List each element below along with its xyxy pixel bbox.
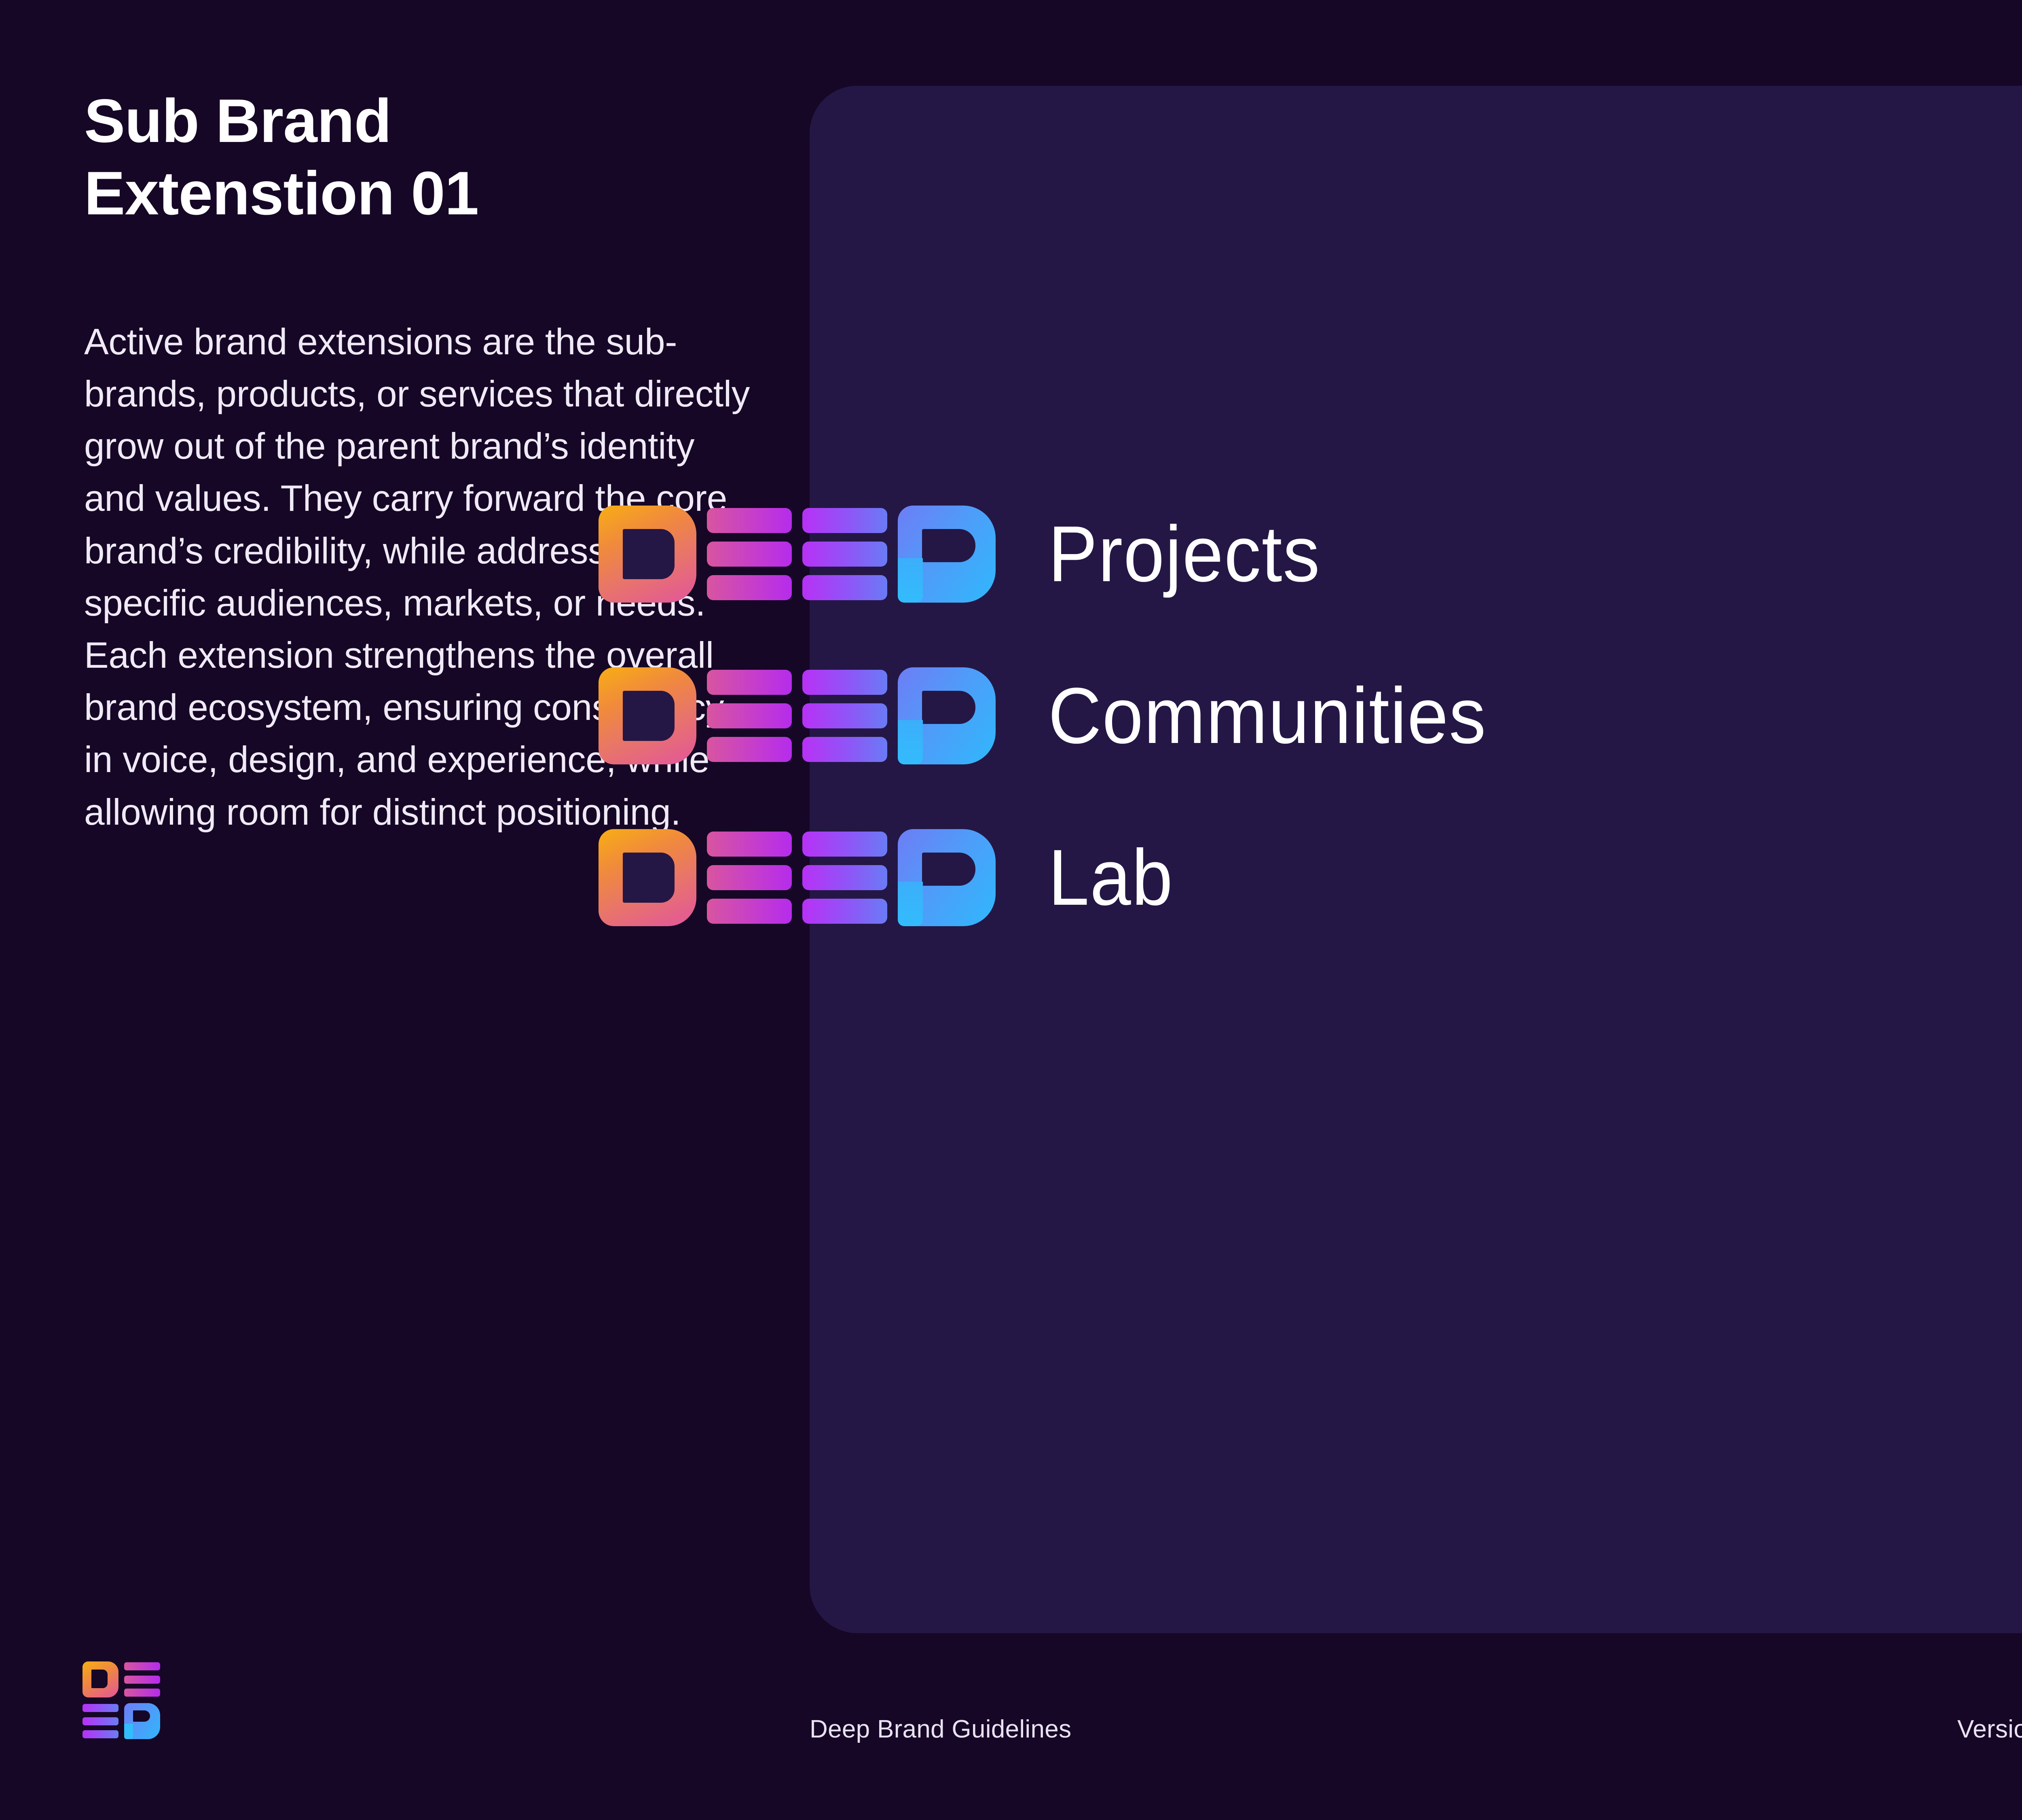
lockup-wordmark: Lab	[1048, 838, 1174, 917]
e-bar	[802, 575, 887, 600]
lockup-communities: Communities	[599, 667, 1520, 764]
footer-logo-letter-d-icon	[82, 1661, 118, 1697]
footer-document-title: Deep Brand Guidelines	[810, 1715, 1071, 1744]
footer-e-bar	[82, 1730, 118, 1738]
footer-logo-letter-p-icon	[124, 1703, 160, 1739]
logo-letter-e2-icon	[802, 667, 887, 764]
logo-letter-e1-icon	[707, 667, 792, 764]
e-bar	[802, 737, 887, 762]
e-bar	[707, 508, 792, 533]
deep-logo-mark	[599, 829, 996, 926]
logo-letter-p-icon	[898, 829, 996, 926]
e-bar	[802, 899, 887, 924]
footer-logo-letter-e2-icon	[82, 1703, 118, 1739]
deep-logo-mark	[599, 506, 996, 603]
footer-e-bar	[124, 1689, 160, 1697]
logo-letter-p-icon	[898, 667, 996, 764]
deep-logo-mark	[599, 667, 996, 764]
e-bar	[802, 670, 887, 695]
logo-letter-e1-icon	[707, 506, 792, 603]
e-bar	[802, 542, 887, 567]
e-bar	[707, 865, 792, 890]
logo-letter-d-icon	[599, 667, 696, 764]
e-bar	[802, 832, 887, 857]
e-bar	[707, 703, 792, 728]
page-title: Sub Brand Extenstion 01	[84, 85, 772, 230]
footer-logo-letter-e1-icon	[124, 1661, 160, 1697]
lockup-lab: Lab	[599, 829, 1520, 926]
lockup-projects: Projects	[599, 506, 1520, 603]
logo-letter-d-icon	[599, 506, 696, 603]
footer-e-bar	[124, 1676, 160, 1684]
e-bar	[707, 670, 792, 695]
footer-version-label: Version 1.0	[1957, 1715, 2022, 1744]
logo-letter-d-icon	[599, 829, 696, 926]
e-bar	[707, 832, 792, 857]
sub-brand-lockup-list: Projects Communities	[599, 506, 1520, 926]
e-bar	[707, 899, 792, 924]
logo-letter-e2-icon	[802, 829, 887, 926]
footer-e-bar	[124, 1662, 160, 1670]
footer-e-bar	[82, 1717, 118, 1725]
e-bar	[802, 508, 887, 533]
footer-deep-logo-icon	[82, 1661, 160, 1739]
footer-e-bar	[82, 1704, 118, 1712]
e-bar	[802, 703, 887, 728]
logo-letter-p-icon	[898, 506, 996, 603]
e-bar	[802, 865, 887, 890]
e-bar	[707, 542, 792, 567]
logo-letter-e1-icon	[707, 829, 792, 926]
logo-letter-e2-icon	[802, 506, 887, 603]
e-bar	[707, 575, 792, 600]
e-bar	[707, 737, 792, 762]
slide-canvas: Sub Brand Extenstion 01 Active brand ext…	[0, 0, 2022, 1820]
lockup-wordmark: Projects	[1048, 514, 1320, 594]
lockup-wordmark: Communities	[1048, 676, 1487, 756]
